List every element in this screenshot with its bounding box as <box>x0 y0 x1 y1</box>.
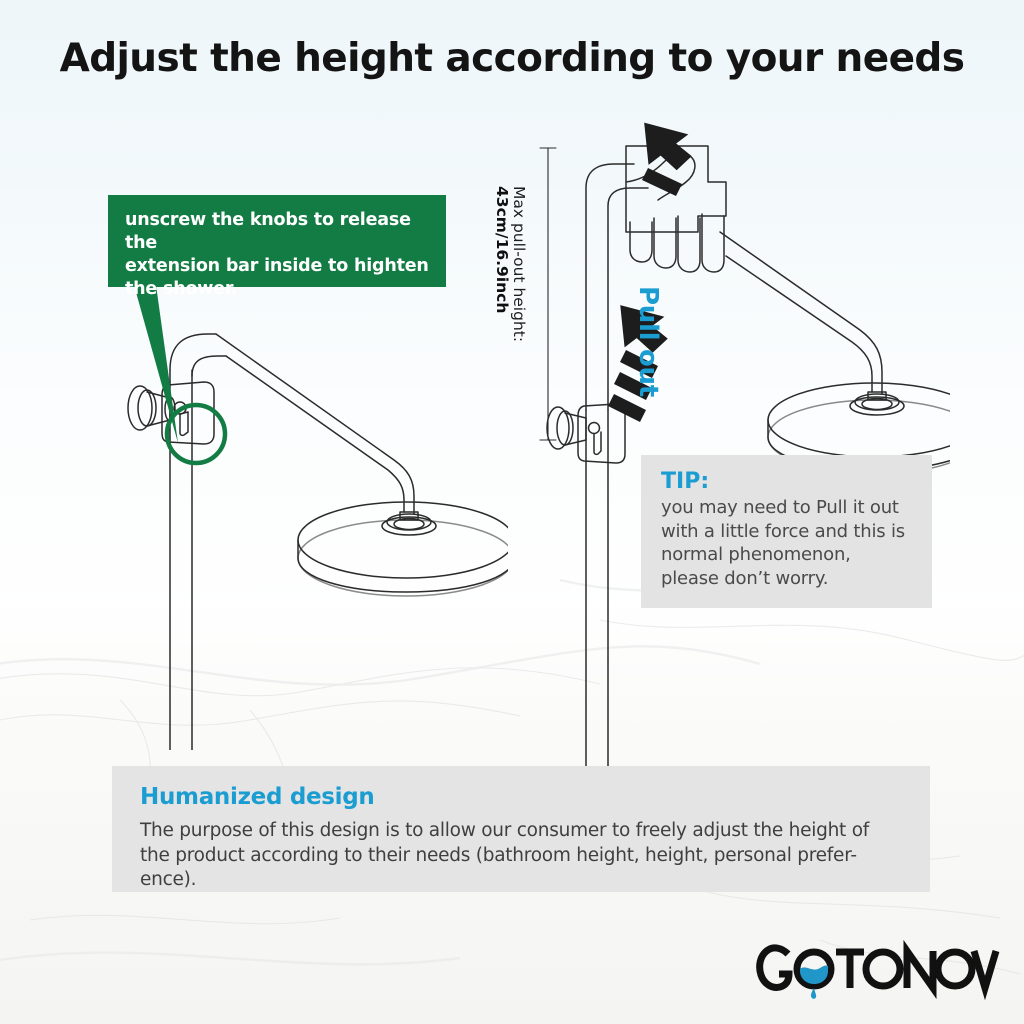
humanized-line-1: The purpose of this design is to allow o… <box>140 819 908 844</box>
gotonovo-logo <box>752 938 1002 1000</box>
humanized-design-box: Humanized design The purpose of this des… <box>112 766 930 892</box>
tip-heading: TIP: <box>661 469 916 494</box>
tip-box: TIP: you may need to Pull it out with a … <box>641 455 932 608</box>
shower-extended-diagram <box>530 110 950 770</box>
unscrew-knob-callout: unscrew the knobs to release the extensi… <box>108 195 446 287</box>
knob-highlight-circle <box>160 398 232 470</box>
tip-line-3: normal phenomenon, <box>661 543 916 567</box>
up-arrow-icon <box>638 113 696 196</box>
tip-line-2: with a little force and this is <box>661 520 916 544</box>
page-title: Adjust the height according to your need… <box>0 36 1024 81</box>
callout-line-1: unscrew the knobs to release the <box>125 209 430 255</box>
infographic-canvas: Adjust the height according to your need… <box>0 0 1024 1024</box>
dimension-label-text: Max pull-out height: <box>510 186 527 366</box>
humanized-heading: Humanized design <box>140 784 908 811</box>
callout-line-2: extension bar inside to highten <box>125 255 430 278</box>
callout-line-3: the shower. <box>125 278 430 301</box>
tip-line-1: you may need to Pull it out <box>661 496 916 520</box>
water-drop-icon <box>797 952 831 999</box>
max-pullout-height-label: Max pull-out height: 43cm/16.9inch <box>491 186 527 366</box>
tip-line-4: please don’t worry. <box>661 567 916 591</box>
dimension-value-text: 43cm/16.9inch <box>493 186 510 366</box>
humanized-line-3: ence). <box>140 868 908 893</box>
humanized-line-2: the product according to their needs (ba… <box>140 844 908 869</box>
pull-out-label: Pull out <box>633 286 663 397</box>
